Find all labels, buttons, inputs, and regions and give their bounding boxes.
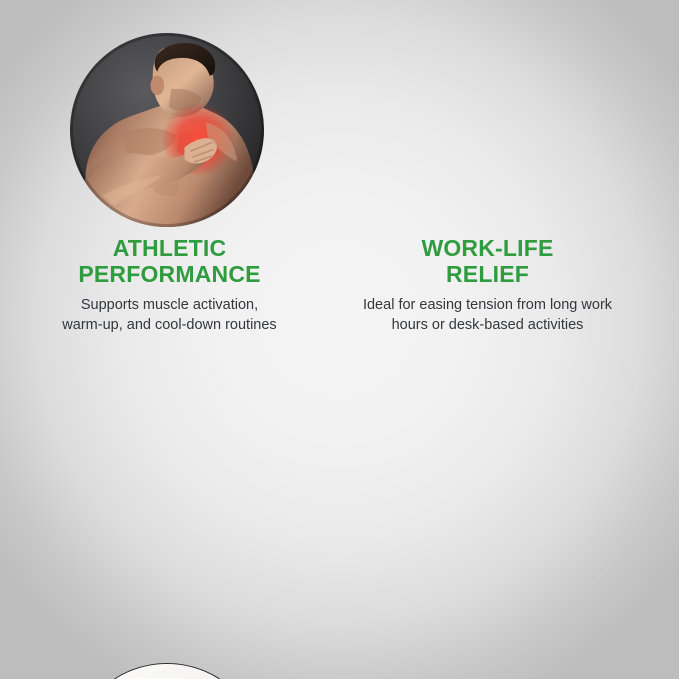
athlete-shoulder-pain-photo: [70, 33, 264, 227]
benefit-card-work-life-relief: WORK-LIFE RELIEF Ideal for easing tensio…: [318, 0, 657, 339]
headline-athletic-performance: ATHLETIC PERFORMANCE: [0, 236, 339, 288]
benefit-card-athletic-performance: ATHLETIC PERFORMANCE Supports muscle act…: [0, 0, 339, 339]
woman-relaxing-photo: [70, 663, 264, 679]
headline-work-life-relief: WORK-LIFE RELIEF: [318, 236, 657, 288]
benefits-infographic: ATHLETIC PERFORMANCE Supports muscle act…: [0, 0, 679, 679]
benefit-card-stress-relief-and-wellness: STRESS RELIEF AND WELLNESS Perfect for u…: [0, 315, 339, 654]
benefit-card-therapeutic-recovery: THERAPEUTIC RECOVERY Assists in post-exe…: [318, 315, 657, 654]
